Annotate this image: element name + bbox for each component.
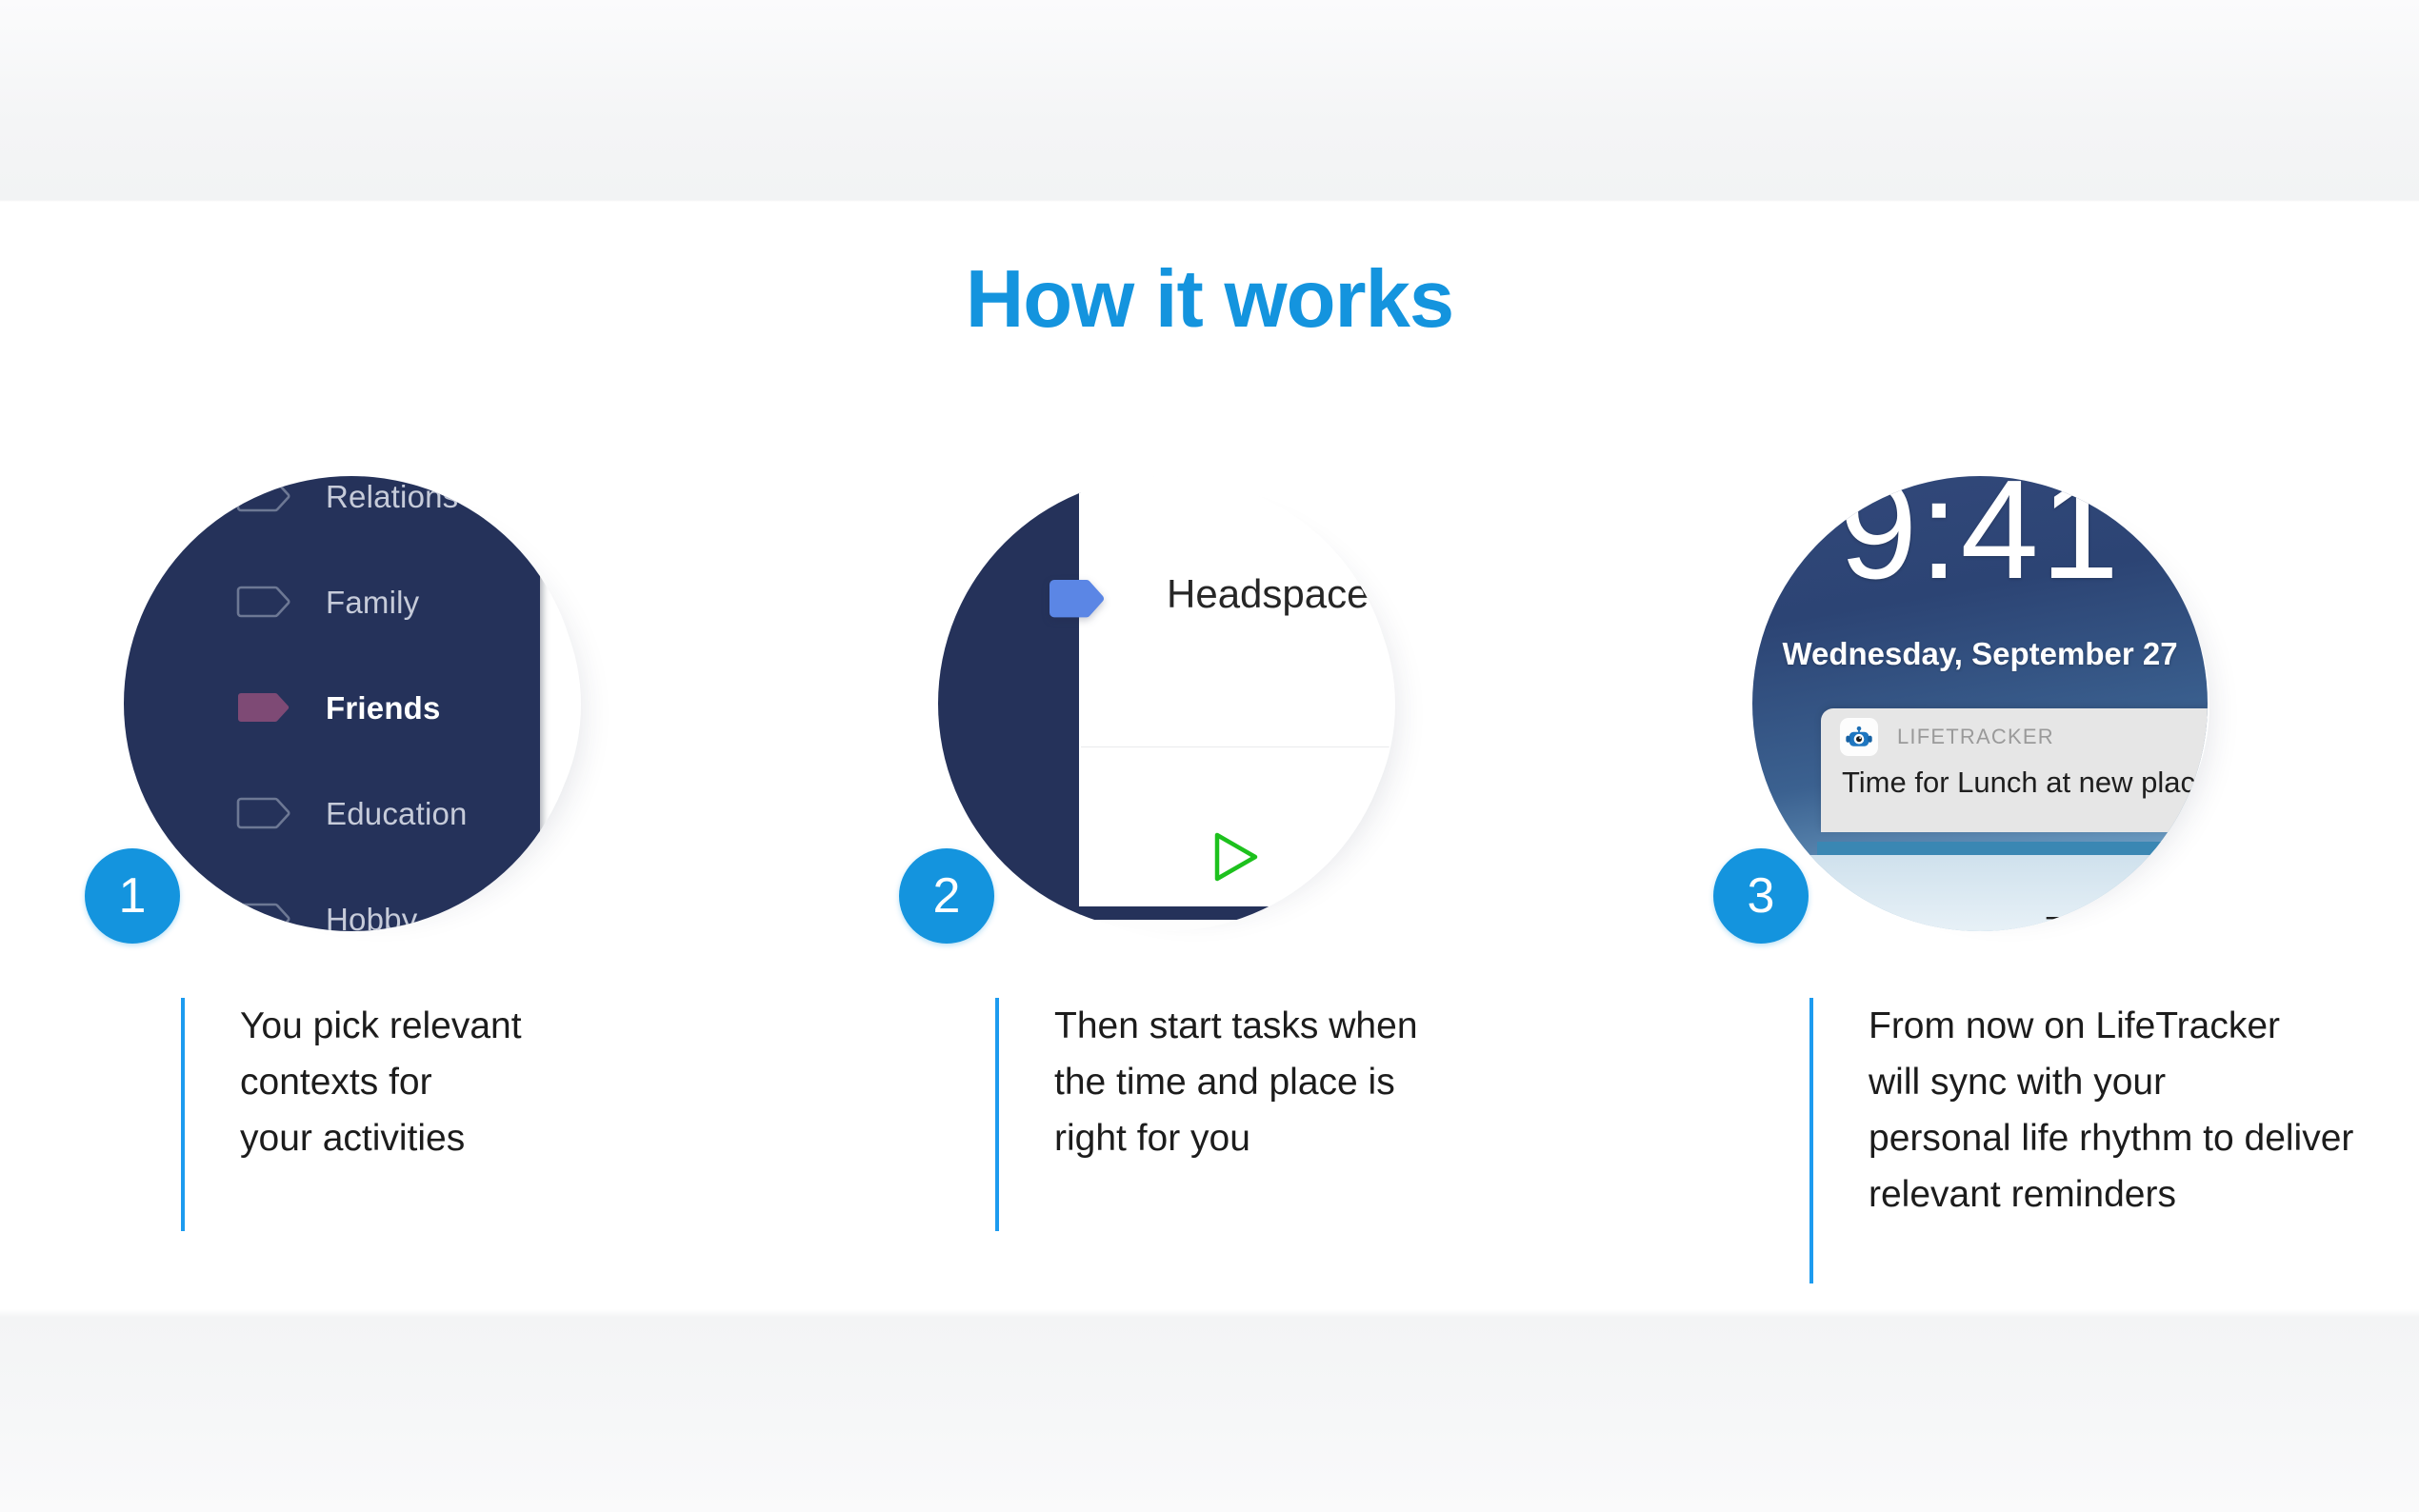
caption-accent-rule <box>1809 998 1813 1283</box>
context-item-label: Education <box>326 796 468 832</box>
notification-header: LIFETRACKER <box>1821 708 2208 766</box>
task-card-bottom-bar <box>1079 906 1393 920</box>
steps-container: Relations Family <box>0 0 2419 1512</box>
step-3-caption: From now on LifeTracker will sync with y… <box>1809 998 2353 1223</box>
play-icon[interactable] <box>1211 830 1261 884</box>
lock-screen-date: Wednesday, September 27 <box>1752 636 2208 672</box>
tag-filled-icon <box>236 691 290 726</box>
task-title: Headspace <box>1167 571 1369 617</box>
robot-icon <box>1840 718 1878 756</box>
tag-outline-icon <box>236 586 290 620</box>
context-item-family[interactable]: Family <box>124 549 540 655</box>
task-card-divider <box>1081 746 1393 747</box>
context-item-education[interactable]: Education <box>124 761 540 866</box>
tag-outline-icon <box>236 480 290 514</box>
step-3: 9:41 Wednesday, September 27 <box>1752 476 2419 1295</box>
caption-text: You pick relevant contexts for your acti… <box>240 998 522 1166</box>
step-3-illustration: 9:41 Wednesday, September 27 <box>1752 476 2208 931</box>
notification-app-name: LIFETRACKER <box>1897 725 2054 749</box>
caption-text: From now on LifeTracker will sync with y… <box>1869 998 2353 1223</box>
tag-outline-icon <box>236 903 290 932</box>
context-item-label: Family <box>326 585 419 621</box>
context-item-relations[interactable]: Relations <box>124 476 540 549</box>
tag-filled-icon <box>1047 578 1106 622</box>
context-item-label: Friends <box>326 690 441 726</box>
context-list: Relations Family <box>124 476 540 931</box>
how-it-works-section: How it works <box>0 0 2419 1512</box>
tag-outline-icon <box>236 797 290 831</box>
step-number-badge-1: 1 <box>85 848 180 944</box>
lock-screen-lower-text: Today <box>2046 910 2125 931</box>
caption-accent-rule <box>995 998 999 1231</box>
lock-screen-lower-panel: Today <box>1809 855 2208 931</box>
step-1: Relations Family <box>124 476 848 1295</box>
step-number-badge-2: 2 <box>899 848 994 944</box>
context-item-friends[interactable]: Friends <box>124 655 540 761</box>
context-item-label: Hobby <box>326 902 417 932</box>
lock-screen-divider-bar <box>1817 842 2208 855</box>
step-2-illustration: Headspace <box>938 476 1393 931</box>
step-1-caption: You pick relevant contexts for your acti… <box>181 998 522 1166</box>
notification-card[interactable]: LIFETRACKER Time for Lunch at new place <box>1821 708 2208 832</box>
caption-accent-rule <box>181 998 185 1231</box>
caption-text: Then start tasks when the time and place… <box>1054 998 1418 1166</box>
step-1-illustration: Relations Family <box>124 476 579 931</box>
step-number-badge-3: 3 <box>1713 848 1809 944</box>
step-2-caption: Then start tasks when the time and place… <box>995 998 1418 1166</box>
notification-body-text: Time for Lunch at new place <box>1821 766 2208 800</box>
context-item-label: Relations <box>326 479 458 515</box>
lock-screen-time: 9:41 <box>1752 476 2208 611</box>
step-2: Headspace 2 Then start tasks whe <box>938 476 1662 1295</box>
